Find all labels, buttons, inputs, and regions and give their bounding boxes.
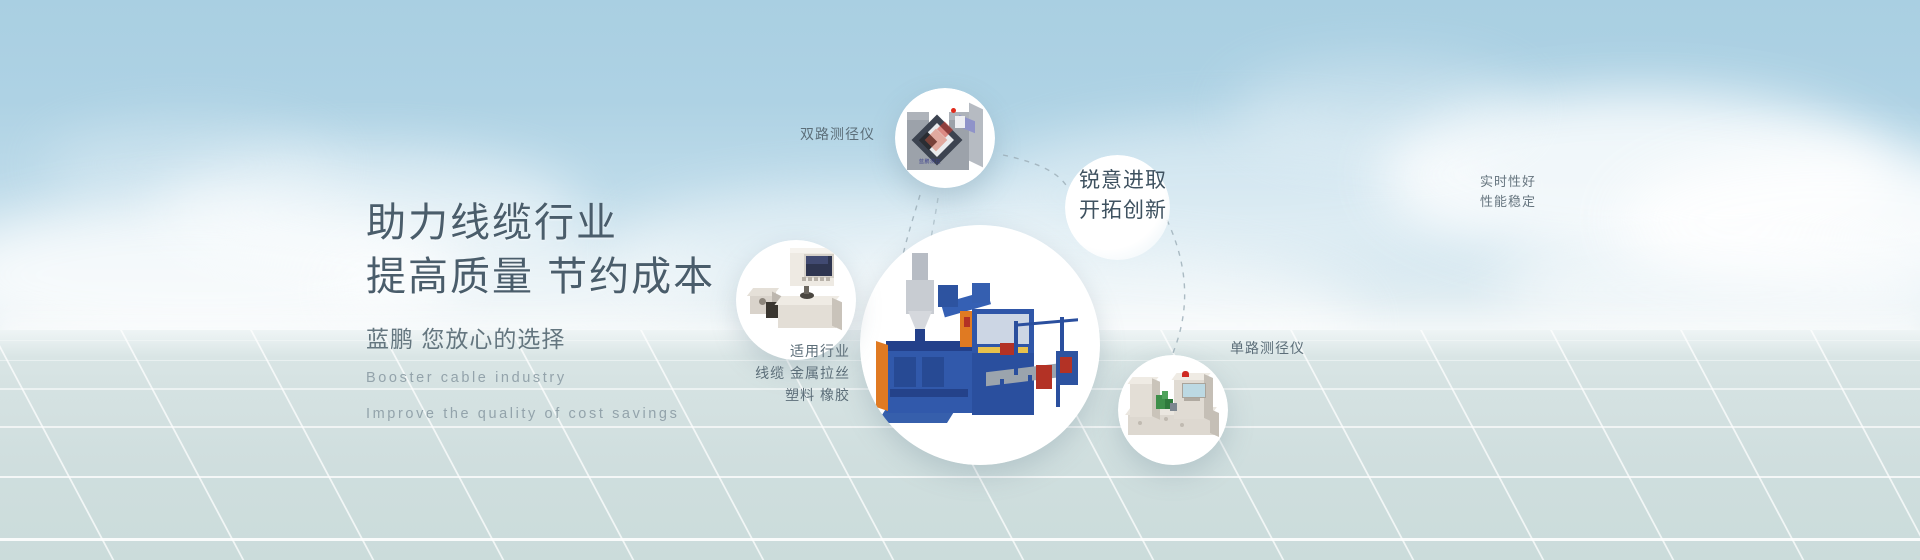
label-features: 实时性好 性能稳定 — [1480, 172, 1536, 212]
bubble-extrusion-line — [860, 225, 1100, 465]
label-single-gauge: 单路测径仪 — [1230, 338, 1305, 359]
headline-block: 助力线缆行业 提高质量 节约成本 蓝鹏 您放心的选择 Booster cable… — [366, 196, 715, 428]
dual-axis-diameter-gauge-icon: 蓝鹏测控 — [895, 88, 995, 188]
cable-extrusion-line-icon — [860, 225, 1100, 465]
brand-mark-text: 蓝鹏测控 — [919, 158, 941, 165]
headline-line-2: 提高质量 节约成本 — [366, 250, 715, 304]
headline-line-1: 助力线缆行业 — [366, 196, 715, 250]
slogan-text: 锐意进取 开拓创新 — [1068, 166, 1178, 226]
english-line-2: Improve the quality of cost savings — [366, 400, 715, 428]
subheadline: 蓝鹏 您放心的选择 — [366, 322, 715, 356]
feature-line-2: 性能稳定 — [1480, 192, 1536, 212]
slogan-line-1: 锐意进取 — [1068, 166, 1178, 196]
slogan-line-2: 开拓创新 — [1068, 196, 1178, 226]
marketing-banner: 助力线缆行业 提高质量 节约成本 蓝鹏 您放心的选择 Booster cable… — [0, 0, 1920, 560]
english-line-1: Booster cable industry — [366, 364, 715, 392]
label-industries: 适用行业 线缆 金属拉丝 塑料 橡胶 — [730, 340, 850, 406]
bubble-dual-gauge: 蓝鹏测控 — [895, 88, 995, 188]
bubble-single-gauge — [1118, 355, 1228, 465]
industry-line-2: 塑料 橡胶 — [730, 384, 850, 406]
label-dual-gauge: 双路测径仪 — [800, 124, 875, 145]
industry-line-1: 线缆 金属拉丝 — [730, 362, 850, 384]
feature-line-1: 实时性好 — [1480, 172, 1536, 192]
industry-title: 适用行业 — [730, 340, 850, 362]
single-axis-diameter-gauge-icon — [1118, 355, 1228, 465]
